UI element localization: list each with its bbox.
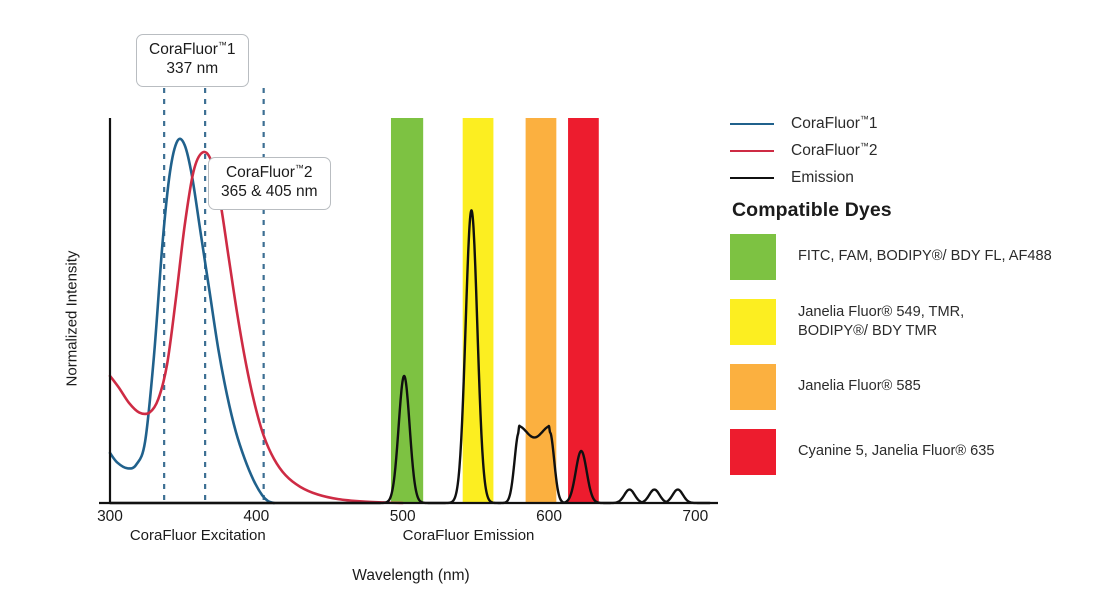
dye-label: FITC, FAM, BODIPY®/ BDY FL, AF488 bbox=[798, 247, 1052, 266]
fluorescence-spectra-figure: CoraFluor™1 337 nm CoraFluor™2 365 & 405… bbox=[0, 0, 1110, 612]
green-band bbox=[391, 118, 423, 503]
dye-row-1[interactable]: FITC, FAM, BODIPY®/ BDY FL, AF488 bbox=[730, 234, 1110, 280]
callout-corafluor-2: CoraFluor™2 365 & 405 nm bbox=[208, 157, 331, 210]
legend-line-swatch bbox=[730, 123, 774, 125]
legend-label: CoraFluor™1 bbox=[791, 115, 878, 133]
dye-color-swatch bbox=[730, 364, 776, 410]
legend-label: CoraFluor™2 bbox=[791, 142, 878, 160]
dye-label-line-1: Cyanine 5, Janelia Fluor® 635 bbox=[798, 442, 995, 461]
legend-line-swatch bbox=[730, 150, 774, 152]
dye-color-swatch bbox=[730, 299, 776, 345]
dye-label-line-1: Janelia Fluor® 585 bbox=[798, 377, 921, 396]
dye-label-line-1: FITC, FAM, BODIPY®/ BDY FL, AF488 bbox=[798, 247, 1052, 266]
trademark-icon: ™ bbox=[860, 113, 869, 123]
x-tick-label-300: 300 bbox=[97, 508, 123, 526]
callout-cf2-num: 2 bbox=[304, 164, 313, 181]
callout-cf1-line2: 337 nm bbox=[149, 60, 236, 79]
legend-label-text: CoraFluor bbox=[791, 142, 860, 159]
callout-corafluor-1: CoraFluor™1 337 nm bbox=[136, 34, 249, 87]
compatible-dyes-list: FITC, FAM, BODIPY®/ BDY FL, AF488Janelia… bbox=[730, 234, 1110, 494]
callout-cf2-name: CoraFluor bbox=[226, 164, 295, 181]
dye-label-line-1: Janelia Fluor® 549, TMR, bbox=[798, 303, 964, 322]
red-band bbox=[568, 118, 599, 503]
legend-label-suffix: 1 bbox=[869, 115, 878, 132]
compatible-dyes-heading: Compatible Dyes bbox=[732, 199, 892, 222]
y-axis-title: Normalized Intensity bbox=[64, 219, 81, 419]
dye-label: Janelia Fluor® 585 bbox=[798, 377, 921, 396]
range-label-excitation: CoraFluor Excitation bbox=[130, 527, 266, 544]
x-tick-label-500: 500 bbox=[390, 508, 416, 526]
trademark-icon: ™ bbox=[295, 163, 304, 173]
x-tick-label-600: 600 bbox=[536, 508, 562, 526]
series-legend: CoraFluor™1CoraFluor™2Emission bbox=[730, 110, 1110, 191]
dye-label-line-2: BODIPY®/ BDY TMR bbox=[798, 322, 964, 341]
trademark-icon: ™ bbox=[860, 140, 869, 150]
callout-cf2-line1: CoraFluor™2 bbox=[221, 164, 318, 183]
trademark-icon: ™ bbox=[218, 40, 227, 50]
dye-label: Cyanine 5, Janelia Fluor® 635 bbox=[798, 442, 995, 461]
callout-cf1-num: 1 bbox=[227, 41, 236, 58]
legend-row-1[interactable]: CoraFluor™1 bbox=[730, 110, 1110, 137]
dye-row-4[interactable]: Cyanine 5, Janelia Fluor® 635 bbox=[730, 429, 1110, 475]
range-label-emission: CoraFluor Emission bbox=[403, 527, 535, 544]
callout-cf1-line1: CoraFluor™1 bbox=[149, 41, 236, 60]
legend-row-2[interactable]: CoraFluor™2 bbox=[730, 137, 1110, 164]
dye-color-swatch bbox=[730, 234, 776, 280]
callout-cf2-line2: 365 & 405 nm bbox=[221, 183, 318, 202]
legend-label-suffix: 2 bbox=[869, 142, 878, 159]
legend-label-text: CoraFluor bbox=[791, 115, 860, 132]
x-tick-label-700: 700 bbox=[682, 508, 708, 526]
x-axis-title: Wavelength (nm) bbox=[352, 567, 469, 585]
dye-row-3[interactable]: Janelia Fluor® 585 bbox=[730, 364, 1110, 410]
legend-label: Emission bbox=[791, 169, 854, 187]
legend-label-text: Emission bbox=[791, 169, 854, 186]
callout-cf1-name: CoraFluor bbox=[149, 41, 218, 58]
x-tick-label-400: 400 bbox=[243, 508, 269, 526]
legend-row-3[interactable]: Emission bbox=[730, 164, 1110, 191]
legend-panel: CoraFluor™1CoraFluor™2Emission Compatibl… bbox=[730, 0, 1110, 612]
dye-label: Janelia Fluor® 549, TMR,BODIPY®/ BDY TMR bbox=[798, 303, 964, 342]
dye-color-swatch bbox=[730, 429, 776, 475]
dye-row-2[interactable]: Janelia Fluor® 549, TMR,BODIPY®/ BDY TMR bbox=[730, 299, 1110, 345]
legend-line-swatch bbox=[730, 177, 774, 179]
